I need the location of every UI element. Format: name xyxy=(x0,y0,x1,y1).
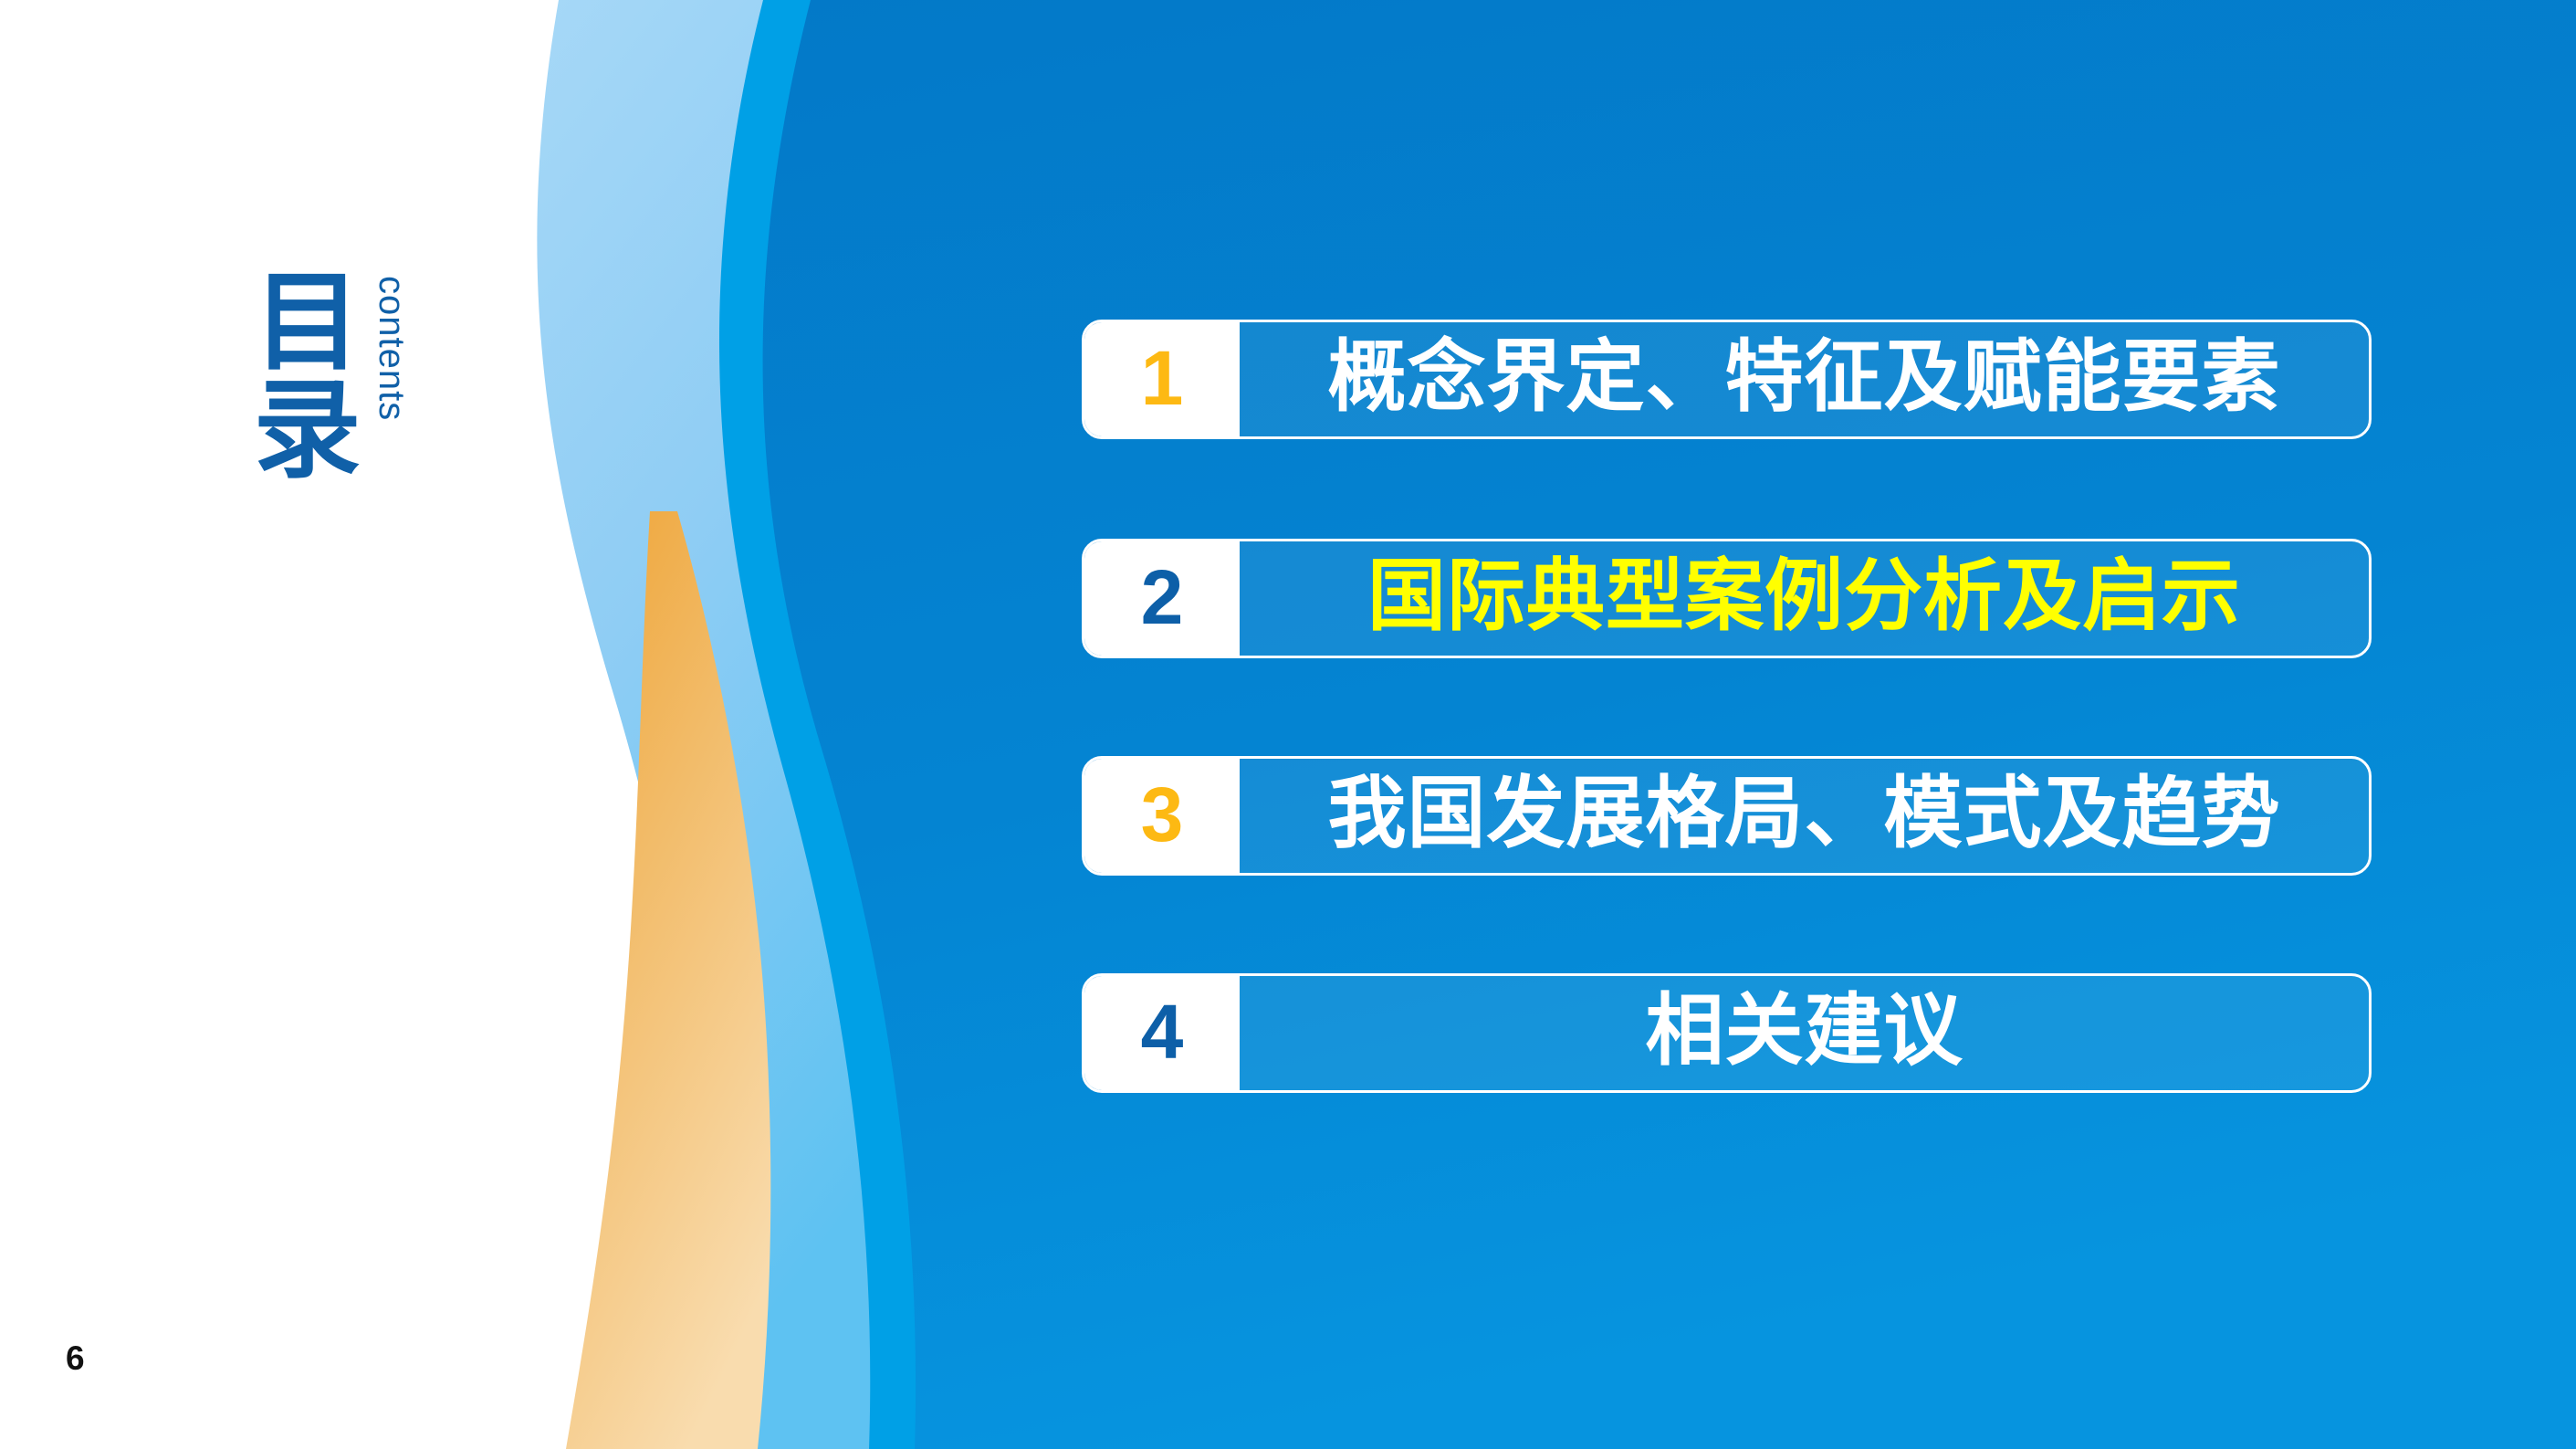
toc-item-3[interactable]: 3 我国发展格局、模式及趋势 xyxy=(1082,756,2372,876)
toc-item-1-number: 1 xyxy=(1141,340,1184,416)
toc-item-3-number: 3 xyxy=(1141,776,1184,853)
toc-item-4-title: 相关建议 xyxy=(1646,992,1963,1070)
toc-list: 1 概念界定、特征及赋能要素 2 国际典型案例分析及启示 3 我国发展格局、模式… xyxy=(1082,320,2378,1160)
slide-canvas: 目录 contents 6 1 概念界定、特征及赋能要素 2 国际典型案例分析及… xyxy=(0,0,2576,1449)
toc-item-1-title: 概念界定、特征及赋能要素 xyxy=(1328,338,2281,416)
page-number: 6 xyxy=(66,1339,85,1378)
toc-item-4-number: 4 xyxy=(1141,993,1184,1070)
toc-item-1[interactable]: 1 概念界定、特征及赋能要素 xyxy=(1082,320,2372,439)
toc-item-2[interactable]: 2 国际典型案例分析及启示 xyxy=(1082,539,2372,658)
toc-item-2-body: 国际典型案例分析及启示 xyxy=(1240,541,2369,656)
toc-item-4-number-cell: 4 xyxy=(1084,976,1240,1090)
toc-item-2-number: 2 xyxy=(1141,559,1184,635)
toc-item-3-number-cell: 3 xyxy=(1084,759,1240,873)
page-subtitle: contents xyxy=(371,276,412,421)
toc-item-2-number-cell: 2 xyxy=(1084,541,1240,656)
toc-heading-group: 目录 contents xyxy=(210,265,520,593)
page-title: 目录 xyxy=(221,265,358,480)
toc-item-4[interactable]: 4 相关建议 xyxy=(1082,973,2372,1093)
toc-item-3-title: 我国发展格局、模式及趋势 xyxy=(1328,774,2281,853)
toc-item-1-body: 概念界定、特征及赋能要素 xyxy=(1240,322,2369,436)
toc-item-3-body: 我国发展格局、模式及趋势 xyxy=(1240,759,2369,873)
toc-item-4-body: 相关建议 xyxy=(1240,976,2369,1090)
toc-item-1-number-cell: 1 xyxy=(1084,322,1240,436)
toc-item-2-title: 国际典型案例分析及启示 xyxy=(1367,557,2241,635)
